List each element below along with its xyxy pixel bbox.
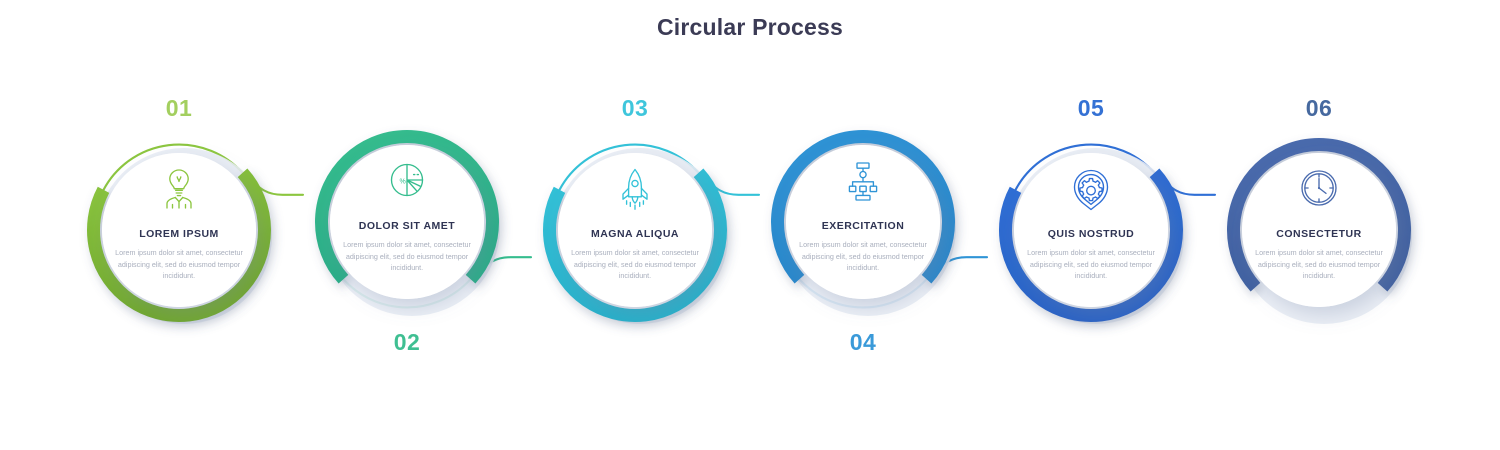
process-circle-02[interactable] bbox=[322, 137, 501, 316]
step-number-03: 03 bbox=[590, 95, 680, 122]
process-circle-01[interactable] bbox=[94, 148, 272, 324]
circle-face-top bbox=[786, 145, 940, 299]
process-circle-03[interactable] bbox=[550, 148, 728, 324]
step-number-04: 04 bbox=[818, 329, 908, 356]
step-number-06: 06 bbox=[1274, 95, 1364, 122]
circle-face-top bbox=[330, 145, 484, 299]
process-circle-06[interactable] bbox=[1233, 145, 1412, 324]
step-number-05: 05 bbox=[1046, 95, 1136, 122]
circle-face-top bbox=[1014, 153, 1168, 307]
infographic-canvas: Circular Process LOREM IPSUMLorem ipsum … bbox=[0, 0, 1500, 450]
process-circle-04[interactable] bbox=[778, 137, 957, 316]
circles-and-connectors-layer bbox=[0, 0, 1500, 450]
circle-face-top bbox=[102, 153, 256, 307]
step-number-02: 02 bbox=[362, 329, 452, 356]
circle-face-top bbox=[558, 153, 712, 307]
step-number-01: 01 bbox=[134, 95, 224, 122]
circle-face-top bbox=[1242, 153, 1396, 307]
process-circle-05[interactable] bbox=[1006, 148, 1184, 324]
